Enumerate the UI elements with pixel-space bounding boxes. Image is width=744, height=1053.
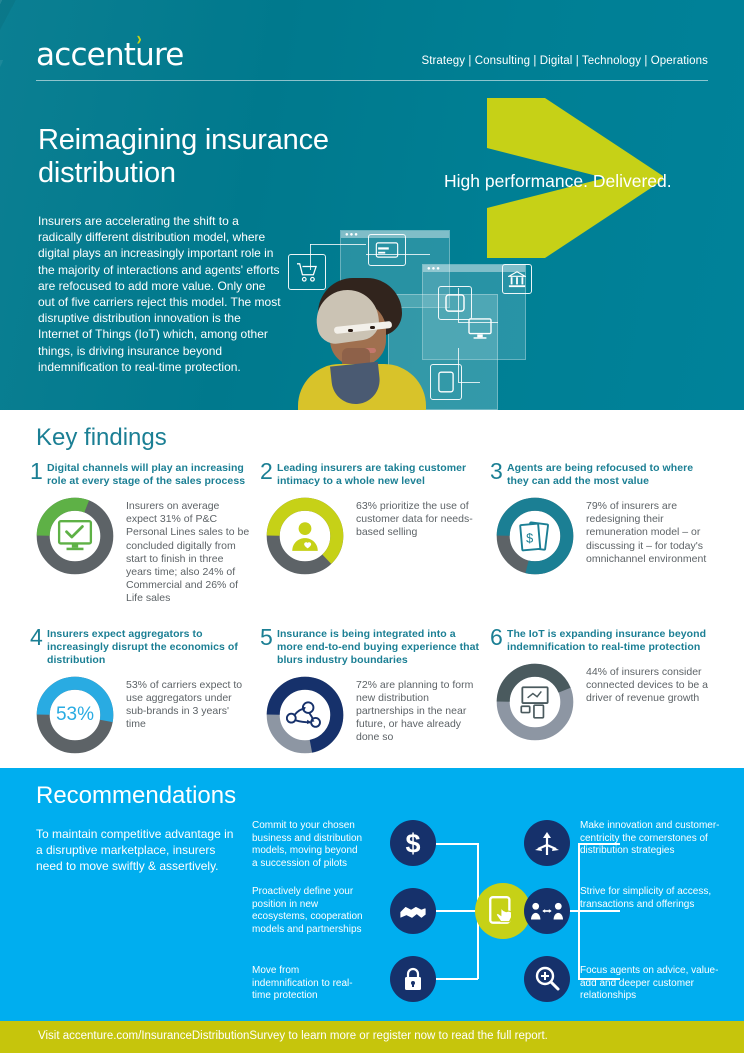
finding-headline: Digital channels will play an increasing… bbox=[47, 462, 251, 488]
finding-number: 1 bbox=[30, 462, 47, 481]
infographic-page: accenture › Strategy | Consulting | Digi… bbox=[0, 0, 744, 1053]
hero-tagline: High performance. Delivered. bbox=[444, 171, 672, 192]
person-photo bbox=[298, 268, 426, 410]
arrows-branch-icon bbox=[524, 820, 570, 866]
finding-stat: 79% of insurers are redesigning their re… bbox=[586, 494, 711, 566]
finding-number: 2 bbox=[260, 462, 277, 481]
recommendation-item: Make innovation and customer-centricity … bbox=[580, 820, 720, 858]
key-findings-grid: 1 Digital channels will play an increasi… bbox=[30, 462, 720, 757]
finding-stat: 72% are planning to form new distributio… bbox=[356, 673, 481, 745]
accenture-logo[interactable]: accenture › bbox=[36, 38, 206, 74]
key-findings-row-1: 1 Digital channels will play an increasi… bbox=[30, 462, 720, 606]
credit-card-icon bbox=[368, 234, 406, 266]
finding-headline: Agents are being refocused to where they… bbox=[507, 462, 711, 488]
logo-caret-icon: › bbox=[137, 34, 142, 46]
finding-headline: The IoT is expanding insurance beyond in… bbox=[507, 628, 711, 654]
person-heart-icon bbox=[263, 494, 347, 578]
finding-donut-chart bbox=[263, 494, 347, 578]
recommendations-diagram: $ bbox=[390, 820, 570, 1005]
finding-donut-chart bbox=[493, 660, 577, 744]
footer-bar: Visit accenture.com/InsuranceDistributio… bbox=[0, 1021, 744, 1053]
finding-stat: 44% of insurers consider connected devic… bbox=[586, 660, 711, 706]
finding-card-1: 1 Digital channels will play an increasi… bbox=[30, 462, 251, 606]
finding-card-2: 2 Leading insurers are taking customer i… bbox=[260, 462, 481, 606]
banknotes-icon: $ bbox=[493, 494, 577, 578]
tablet-tap-icon bbox=[475, 883, 531, 939]
network-nodes-icon bbox=[263, 673, 347, 757]
connected-devices-icon bbox=[493, 660, 577, 744]
svg-text:$: $ bbox=[406, 829, 421, 857]
handshake-icon bbox=[390, 888, 436, 934]
people-exchange-icon bbox=[524, 888, 570, 934]
key-findings-title: Key findings bbox=[36, 424, 167, 452]
lock-icon bbox=[390, 956, 436, 1002]
finding-donut-chart: 53% bbox=[33, 673, 117, 757]
finding-stat: Insurers on average expect 31% of P&C Pe… bbox=[126, 494, 251, 606]
recommendation-item: Focus agents on advice, value-add and de… bbox=[580, 965, 720, 1003]
recommendations-section: Recommendations To maintain competitive … bbox=[0, 768, 744, 1021]
dollar-icon: $ bbox=[390, 820, 436, 866]
hero-section: accenture › Strategy | Consulting | Digi… bbox=[0, 0, 744, 410]
svg-text:$: $ bbox=[526, 531, 533, 545]
key-findings-row-2: 4 Insurers expect aggregators to increas… bbox=[30, 628, 720, 757]
recommendation-item: Proactively define your position in new … bbox=[252, 886, 364, 936]
footer-link-text[interactable]: Visit accenture.com/InsuranceDistributio… bbox=[38, 1030, 548, 1042]
recommendation-item: Move from indemnification to real-time p… bbox=[252, 965, 364, 1003]
logo-wordmark: accenture bbox=[36, 38, 206, 72]
finding-number: 3 bbox=[490, 462, 507, 481]
finding-number: 6 bbox=[490, 628, 507, 647]
recommendations-intro: To maintain competitive advantage in a d… bbox=[36, 826, 242, 874]
finding-stat: 53% of carriers expect to use aggregator… bbox=[126, 673, 251, 732]
hero-title: Reimagining insurance distribution bbox=[38, 124, 428, 190]
finding-stat: 63% prioritize the use of customer data … bbox=[356, 494, 481, 540]
finding-card-4: 4 Insurers expect aggregators to increas… bbox=[30, 628, 251, 757]
desktop-monitor-icon bbox=[464, 314, 496, 344]
finding-card-3: 3 Agents are being refocused to where th… bbox=[490, 462, 711, 606]
finding-card-6: 6 The IoT is expanding insurance beyond … bbox=[490, 628, 711, 757]
bank-building-icon bbox=[502, 264, 532, 294]
header-divider bbox=[36, 80, 708, 81]
tablet-icon bbox=[430, 364, 462, 400]
finding-donut-chart bbox=[33, 494, 117, 578]
magnifier-plus-icon bbox=[524, 956, 570, 1002]
hero-body-text: Insurers are accelerating the shift to a… bbox=[38, 213, 284, 375]
finding-card-5: 5 Insurance is being integrated into a m… bbox=[260, 628, 481, 757]
finding-donut-chart: $ bbox=[493, 494, 577, 578]
donut-center-label: 53% bbox=[33, 673, 117, 757]
finding-donut-chart bbox=[263, 673, 347, 757]
recommendation-item: Strive for simplicity of access, transac… bbox=[580, 886, 720, 911]
finding-headline: Insurance is being integrated into a mor… bbox=[277, 628, 481, 667]
header-services-list: Strategy | Consulting | Digital | Techno… bbox=[421, 55, 708, 67]
finding-headline: Leading insurers are taking customer int… bbox=[277, 462, 481, 488]
finding-number: 4 bbox=[30, 628, 47, 647]
key-findings-section: Key findings 1 Digital channels will pla… bbox=[0, 410, 744, 768]
recommendation-item: Commit to your chosen business and distr… bbox=[252, 820, 364, 870]
finding-headline: Insurers expect aggregators to increasin… bbox=[47, 628, 251, 667]
monitor-check-icon bbox=[33, 494, 117, 578]
recommendations-title: Recommendations bbox=[36, 782, 236, 810]
finding-number: 5 bbox=[260, 628, 277, 647]
hero-illustration: ●●● ●●● bbox=[270, 228, 570, 410]
